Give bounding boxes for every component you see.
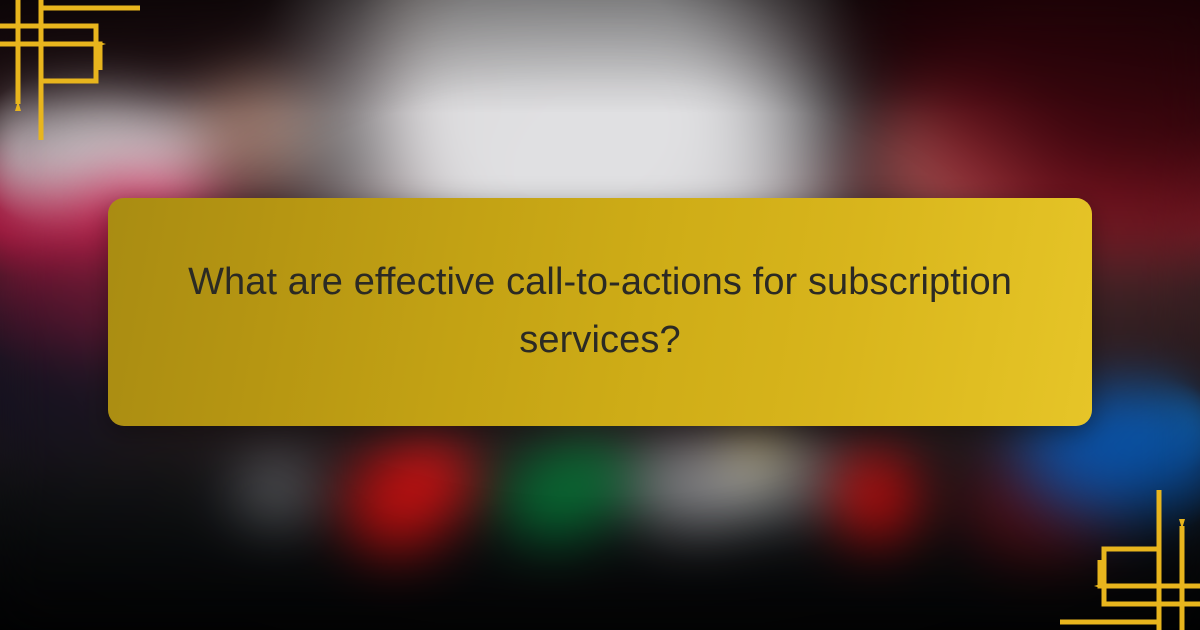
question-banner: What are effective call-to-actions for s… <box>108 198 1092 426</box>
corner-ornament-bottom-right-icon <box>1060 490 1200 630</box>
question-card-canvas: What are effective call-to-actions for s… <box>0 0 1200 630</box>
corner-ornament-top-left-icon <box>0 0 140 140</box>
question-text: What are effective call-to-actions for s… <box>164 254 1036 370</box>
